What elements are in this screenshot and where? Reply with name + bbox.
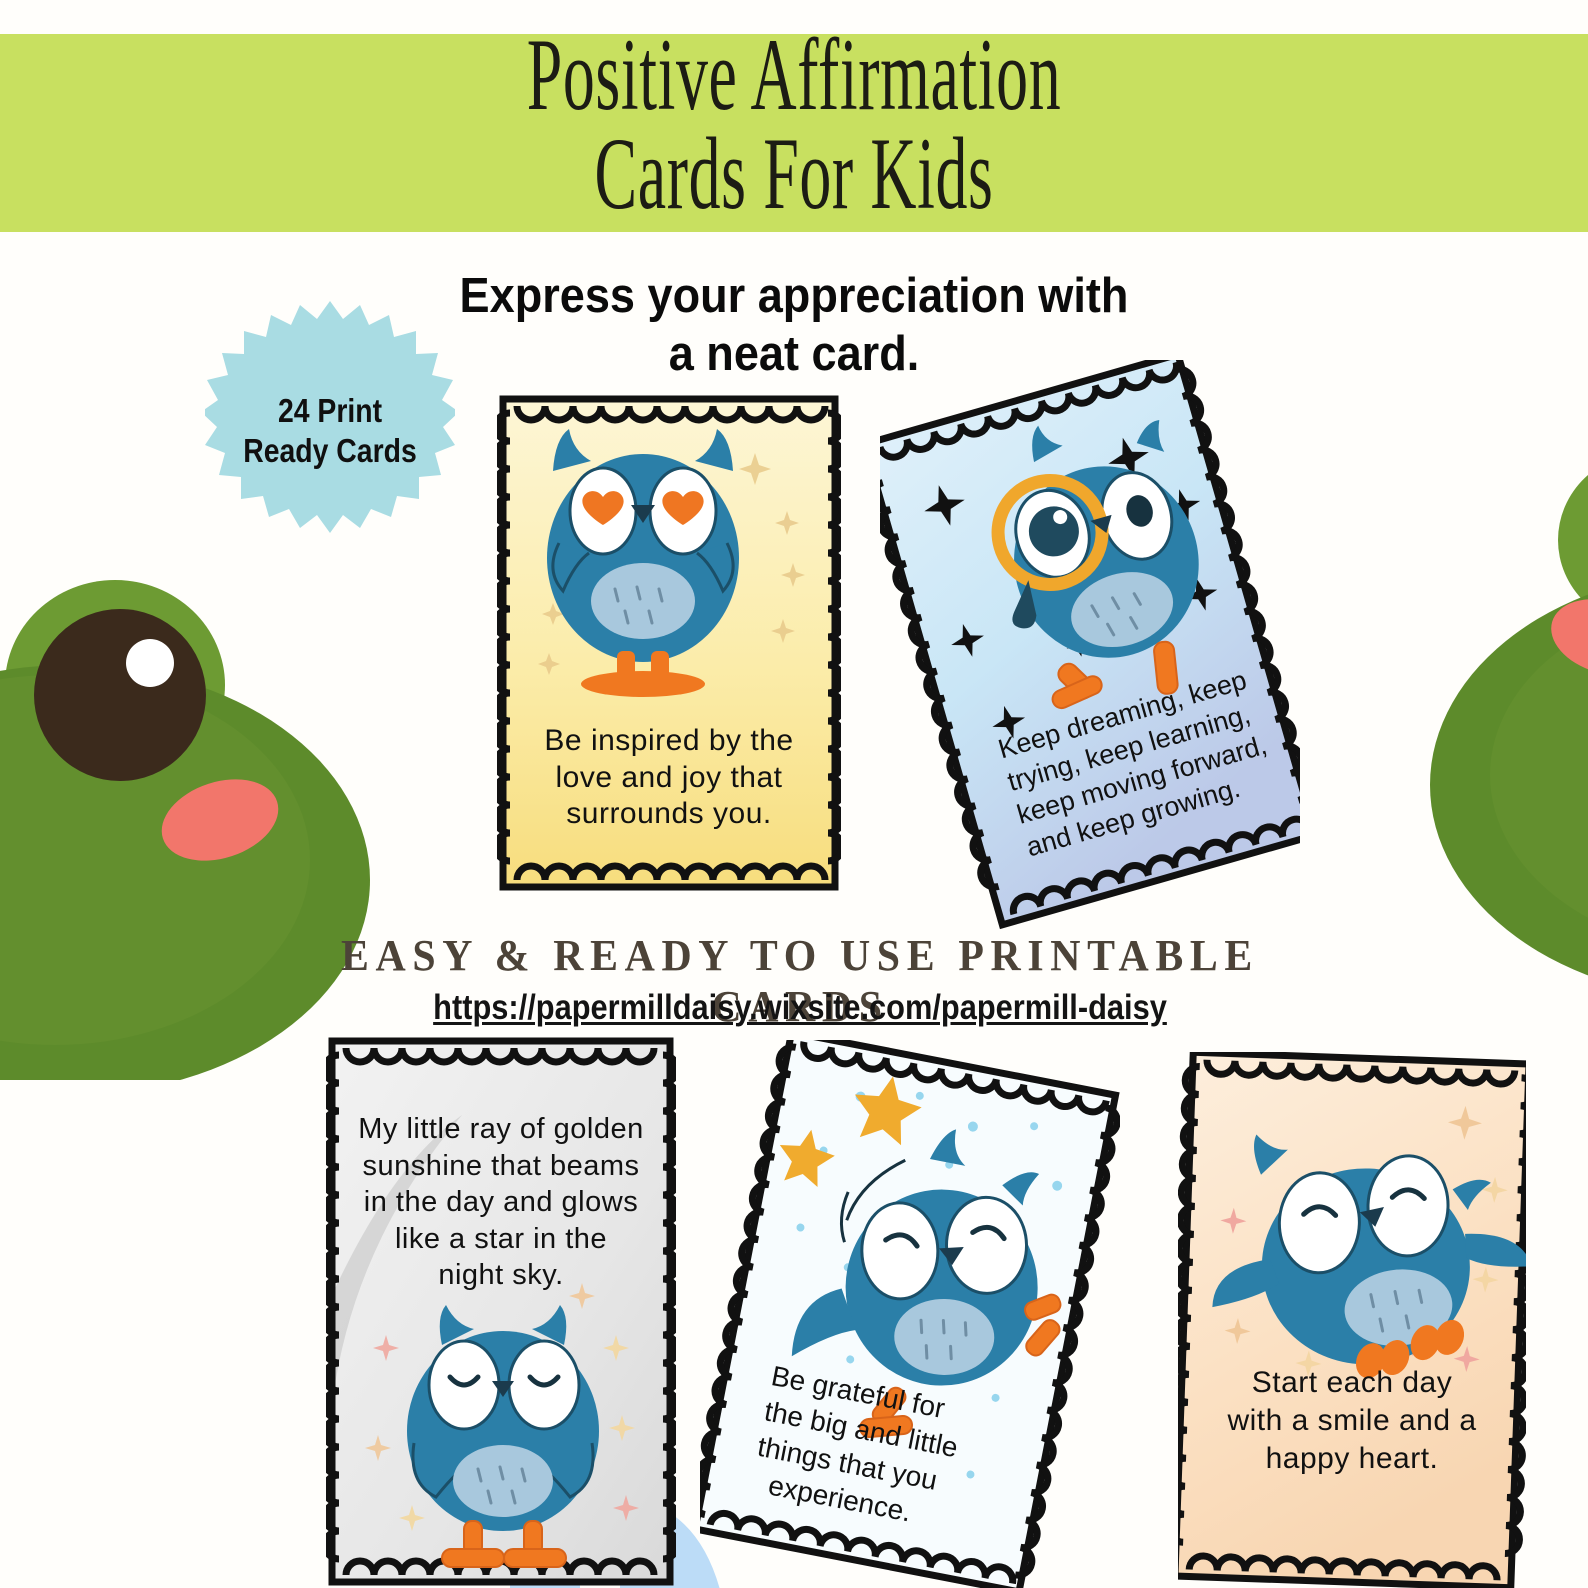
frog-eye <box>34 609 206 781</box>
affirmation-card-4[interactable]: Be grateful for the big and little thing… <box>700 1040 1120 1588</box>
poster-canvas: Positive Affirmation Cards For Kids Expr… <box>0 0 1588 1588</box>
affirmation-card-2[interactable]: Keep dreaming, keep trying, keep learnin… <box>880 360 1300 940</box>
badge-24-print-ready-cards: 24 Print Ready Cards <box>205 295 455 560</box>
owl-belly <box>453 1445 553 1517</box>
website-url[interactable]: https://papermilldaisy.wixsite.com/paper… <box>298 988 1301 1028</box>
card-1-quote: Be inspired by the love and joy that sur… <box>519 723 819 833</box>
frog-eye-highlight <box>126 639 174 687</box>
affirmation-card-5[interactable]: Start each day with a smile and a happy … <box>1178 1052 1526 1588</box>
affirmation-card-1[interactable]: Be inspired by the love and joy that sur… <box>497 393 841 893</box>
affirmation-card-3[interactable]: My little ray of golden sunshine that be… <box>326 1035 676 1588</box>
card-5-quote: Start each day with a smile and a happy … <box>1196 1364 1508 1477</box>
frog-right-decoration <box>1395 455 1588 1015</box>
badge-label: 24 Print Ready Cards <box>223 391 438 472</box>
page-title: Positive Affirmation Cards For Kids <box>302 26 1287 224</box>
owl-belly <box>591 563 695 639</box>
card-3-quote: My little ray of golden sunshine that be… <box>342 1111 660 1294</box>
